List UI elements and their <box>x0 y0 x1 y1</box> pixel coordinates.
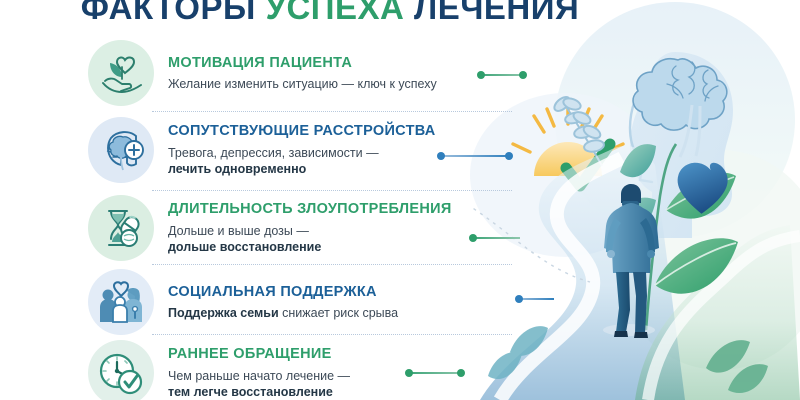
factor-heading: СОЦИАЛЬНАЯ ПОДДЕРЖКА <box>168 284 398 301</box>
factor-subtext: Желание изменить ситуацию — ключ к успех… <box>168 76 437 93</box>
title-part-2: УСПЕХА <box>265 0 414 26</box>
connector-line-2 <box>438 155 512 157</box>
connector-line-3 <box>470 237 520 239</box>
factor-subtext-plain: Тревога, депрессия, зависимости — <box>168 146 379 160</box>
factor-row-social-support[interactable]: СОЦИАЛЬНАЯ ПОДДЕРЖКА Поддержка семьи сни… <box>88 267 398 337</box>
connector-dot-end <box>457 369 465 377</box>
connector-line-1 <box>478 74 526 76</box>
connector-line-body <box>438 155 512 157</box>
connector-line-5 <box>406 372 464 374</box>
factor-subtext-plain: Дольше и выше дозы — <box>168 224 309 238</box>
connector-line-body <box>470 237 520 239</box>
factor-subtext: Поддержка семьи снижает риск срыва <box>168 305 398 322</box>
factor-text: РАННЕЕ ОБРАЩЕНИЕ Чем раньше начато лечен… <box>168 345 350 400</box>
connector-dot-start <box>515 295 523 303</box>
factor-list: МОТИВАЦИЯ ПАЦИЕНТА Желание изменить ситу… <box>0 30 520 400</box>
factor-subtext: Тревога, депрессия, зависимости — лечить… <box>168 145 436 178</box>
title-part-3: ЛЕЧЕНИЯ <box>414 0 579 26</box>
connector-dot-start <box>469 234 477 242</box>
factor-text: ДЛИТЕЛЬНОСТЬ ЗЛОУПОТРЕБЛЕНИЯ Дольше и вы… <box>168 200 452 255</box>
factor-subtext-plain: снижает риск срыва <box>279 306 398 320</box>
factor-heading: СОПУТСТВУЮЩИЕ РАССТРОЙСТВА <box>168 123 436 140</box>
clock-checkmark-icon <box>88 340 154 400</box>
factor-row-comorbidity[interactable]: СОПУТСТВУЮЩИЕ РАССТРОЙСТВА Тревога, депр… <box>88 115 436 185</box>
head-brain-medical-cross-icon <box>88 117 154 183</box>
factor-text: СОЦИАЛЬНАЯ ПОДДЕРЖКА Поддержка семьи сни… <box>168 283 398 322</box>
factor-heading: ДЛИТЕЛЬНОСТЬ ЗЛОУПОТРЕБЛЕНИЯ <box>168 201 452 218</box>
page-title: ФАКТОРЫ УСПЕХА ЛЕЧЕНИЯ <box>0 0 660 27</box>
factor-subtext-bold: дольше восстановление <box>168 240 321 254</box>
factor-subtext-bold: Поддержка семьи <box>168 306 279 320</box>
factor-subtext: Чем раньше начато лечение — тем легче во… <box>168 368 350 400</box>
factor-heading: МОТИВАЦИЯ ПАЦИЕНТА <box>168 55 437 72</box>
title-part-1: ФАКТОРЫ <box>81 0 266 26</box>
hourglass-pills-icon <box>88 195 154 261</box>
connector-line-body <box>406 372 464 374</box>
family-support-heart-icon <box>88 269 154 335</box>
infographic-page: ФАКТОРЫ УСПЕХА ЛЕЧЕНИЯ <box>0 0 800 400</box>
factor-subtext-plain: Желание изменить ситуацию — ключ к успех… <box>168 77 437 91</box>
factor-row-duration[interactable]: ДЛИТЕЛЬНОСТЬ ЗЛОУПОТРЕБЛЕНИЯ Дольше и вы… <box>88 193 452 263</box>
connector-dot-start <box>405 369 413 377</box>
factor-subtext: Дольше и выше дозы — дольше восстановлен… <box>168 223 452 256</box>
hand-holding-plant-heart-icon <box>88 40 154 106</box>
connector-dot-start <box>477 71 485 79</box>
connector-dot-end <box>519 71 527 79</box>
factor-text: СОПУТСТВУЮЩИЕ РАССТРОЙСТВА Тревога, депр… <box>168 122 436 177</box>
connector-dot-start <box>437 152 445 160</box>
factor-row-motivation[interactable]: МОТИВАЦИЯ ПАЦИЕНТА Желание изменить ситу… <box>88 38 437 108</box>
factor-subtext-bold: тем легче восстановление <box>168 385 333 399</box>
connector-dot-end <box>505 152 513 160</box>
factor-subtext-plain: Чем раньше начато лечение — <box>168 369 350 383</box>
factor-text: МОТИВАЦИЯ ПАЦИЕНТА Желание изменить ситу… <box>168 54 437 93</box>
factor-heading: РАННЕЕ ОБРАЩЕНИЕ <box>168 346 350 363</box>
factor-row-early-treatment[interactable]: РАННЕЕ ОБРАЩЕНИЕ Чем раньше начато лечен… <box>88 338 350 400</box>
factor-subtext-bold: лечить одновременно <box>168 162 306 176</box>
connector-line-4 <box>516 298 554 300</box>
